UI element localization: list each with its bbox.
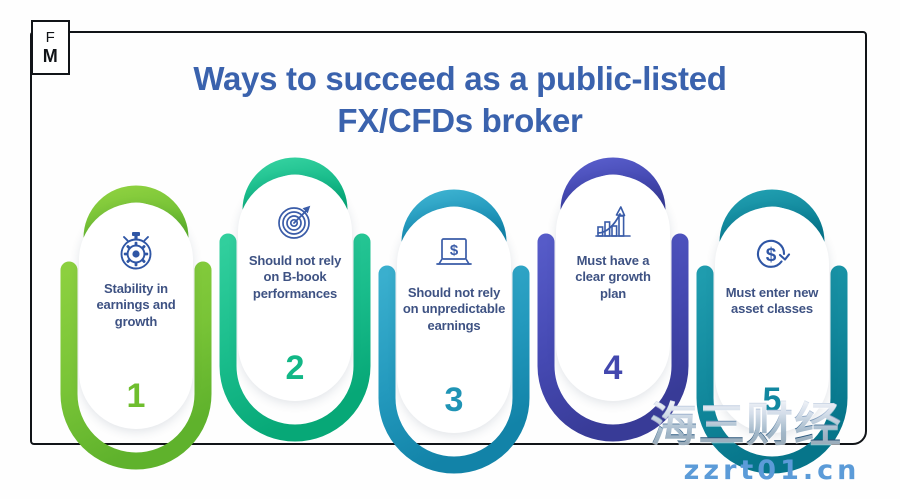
logo-letter-m: M [43,47,59,65]
card-1-text: Stability in earnings and growth [84,281,188,330]
card-5-text: Must enter new asset classes [720,285,824,318]
target-dart-icon [273,201,317,243]
dollar-cycle-icon: $ [750,233,794,275]
card-3-text: Should not rely on unpredictable earning… [402,285,506,334]
svg-text:$: $ [450,242,459,259]
infographic-root: F M Ways to succeed as a public-listed F… [0,0,900,499]
card-4-body: Must have a clear growth plan 4 [556,175,670,401]
card-4-text: Must have a clear growth plan [561,253,665,302]
card-3-body: $ Should not rely on unpredictable earni… [397,207,511,433]
card-2-text: Should not rely on B-book performances [243,253,347,302]
title-line-1: Ways to succeed as a public-listed [90,58,830,100]
card-1-body: Stability in earnings and growth 1 [79,203,193,429]
stopwatch-gear-icon [114,229,158,271]
card-5: $ Must enter new asset classes 5 [698,196,846,444]
page-title: Ways to succeed as a public-listed FX/CF… [90,58,830,141]
card-4-number: 4 [556,351,670,385]
card-1-number: 1 [79,379,193,413]
laptop-dollar-icon: $ [432,233,476,275]
card-3: $ Should not rely on unpredictable earni… [380,196,528,444]
card-5-body: $ Must enter new asset classes 5 [715,207,829,433]
growth-chart-icon [591,201,635,243]
card-4: Must have a clear growth plan 4 [539,164,687,412]
cards-row: Stability in earnings and growth 1 [30,160,870,440]
title-line-2: FX/CFDs broker [90,100,830,142]
logo-letter-f: F [46,30,56,45]
card-2-number: 2 [238,351,352,385]
card-3-number: 3 [397,383,511,417]
fm-logo: F M [31,20,70,75]
card-2: Should not rely on B-book performances 2 [221,164,369,412]
svg-text:$: $ [766,245,777,266]
card-5-number: 5 [715,383,829,417]
card-2-body: Should not rely on B-book performances 2 [238,175,352,401]
card-1: Stability in earnings and growth 1 [62,192,210,440]
